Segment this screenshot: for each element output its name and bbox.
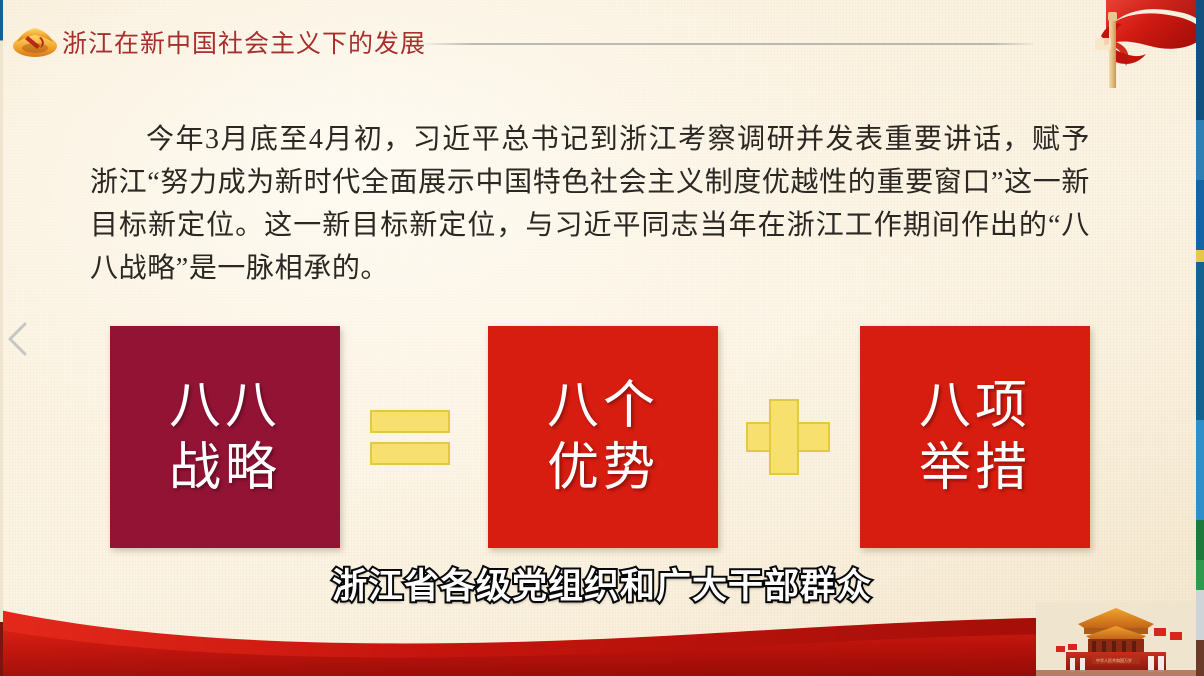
plus-bar-vertical	[769, 399, 799, 475]
plus-sign-icon	[742, 390, 834, 482]
right-edge-browser-strip	[1196, 0, 1204, 676]
concept-box-measures-line2: 举措	[919, 437, 1031, 499]
concept-box-strengths: 八个 优势	[488, 326, 718, 548]
concept-box-strategy-line2: 战略	[169, 437, 281, 499]
svg-text:中华人民共和国万岁: 中华人民共和国万岁	[1096, 657, 1132, 663]
concept-box-strengths-line2: 优势	[547, 437, 659, 499]
video-subtitle-caption: 浙江省各级党组织和广大干部群众	[0, 558, 1204, 609]
concept-box-measures: 八项 举措	[860, 326, 1090, 548]
page-title: 浙江在新中国社会主义下的发展	[62, 24, 426, 60]
left-edge-strip	[0, 0, 3, 676]
equals-bar-top	[370, 410, 450, 433]
header-divider	[422, 43, 1034, 45]
slide-header: 浙江在新中国社会主义下的发展	[0, 0, 1204, 78]
concept-box-measures-line1: 八项	[919, 375, 1031, 437]
slide-canvas: 浙江在新中国社会主义下的发展	[0, 0, 1204, 676]
concept-box-strategy: 八八 战略	[110, 326, 340, 548]
formula-row: 八八 战略 八个 优势 八项 举措	[0, 326, 1204, 548]
tiananmen-gate-icon: 中华人民共和国万岁	[1036, 602, 1196, 676]
concept-box-strengths-line1: 八个	[547, 375, 659, 437]
equals-sign-icon	[364, 390, 456, 482]
body-paragraph: 今年3月底至4月初，习近平总书记到浙江考察调研并发表重要讲话，赋予浙江“努力成为…	[90, 118, 1090, 290]
red-flag-icon	[1054, 0, 1204, 88]
concept-box-strategy-line1: 八八	[169, 375, 281, 437]
equals-bar-bottom	[370, 442, 450, 465]
party-emblem-icon	[10, 24, 60, 60]
chevron-left-icon[interactable]	[4, 318, 32, 360]
